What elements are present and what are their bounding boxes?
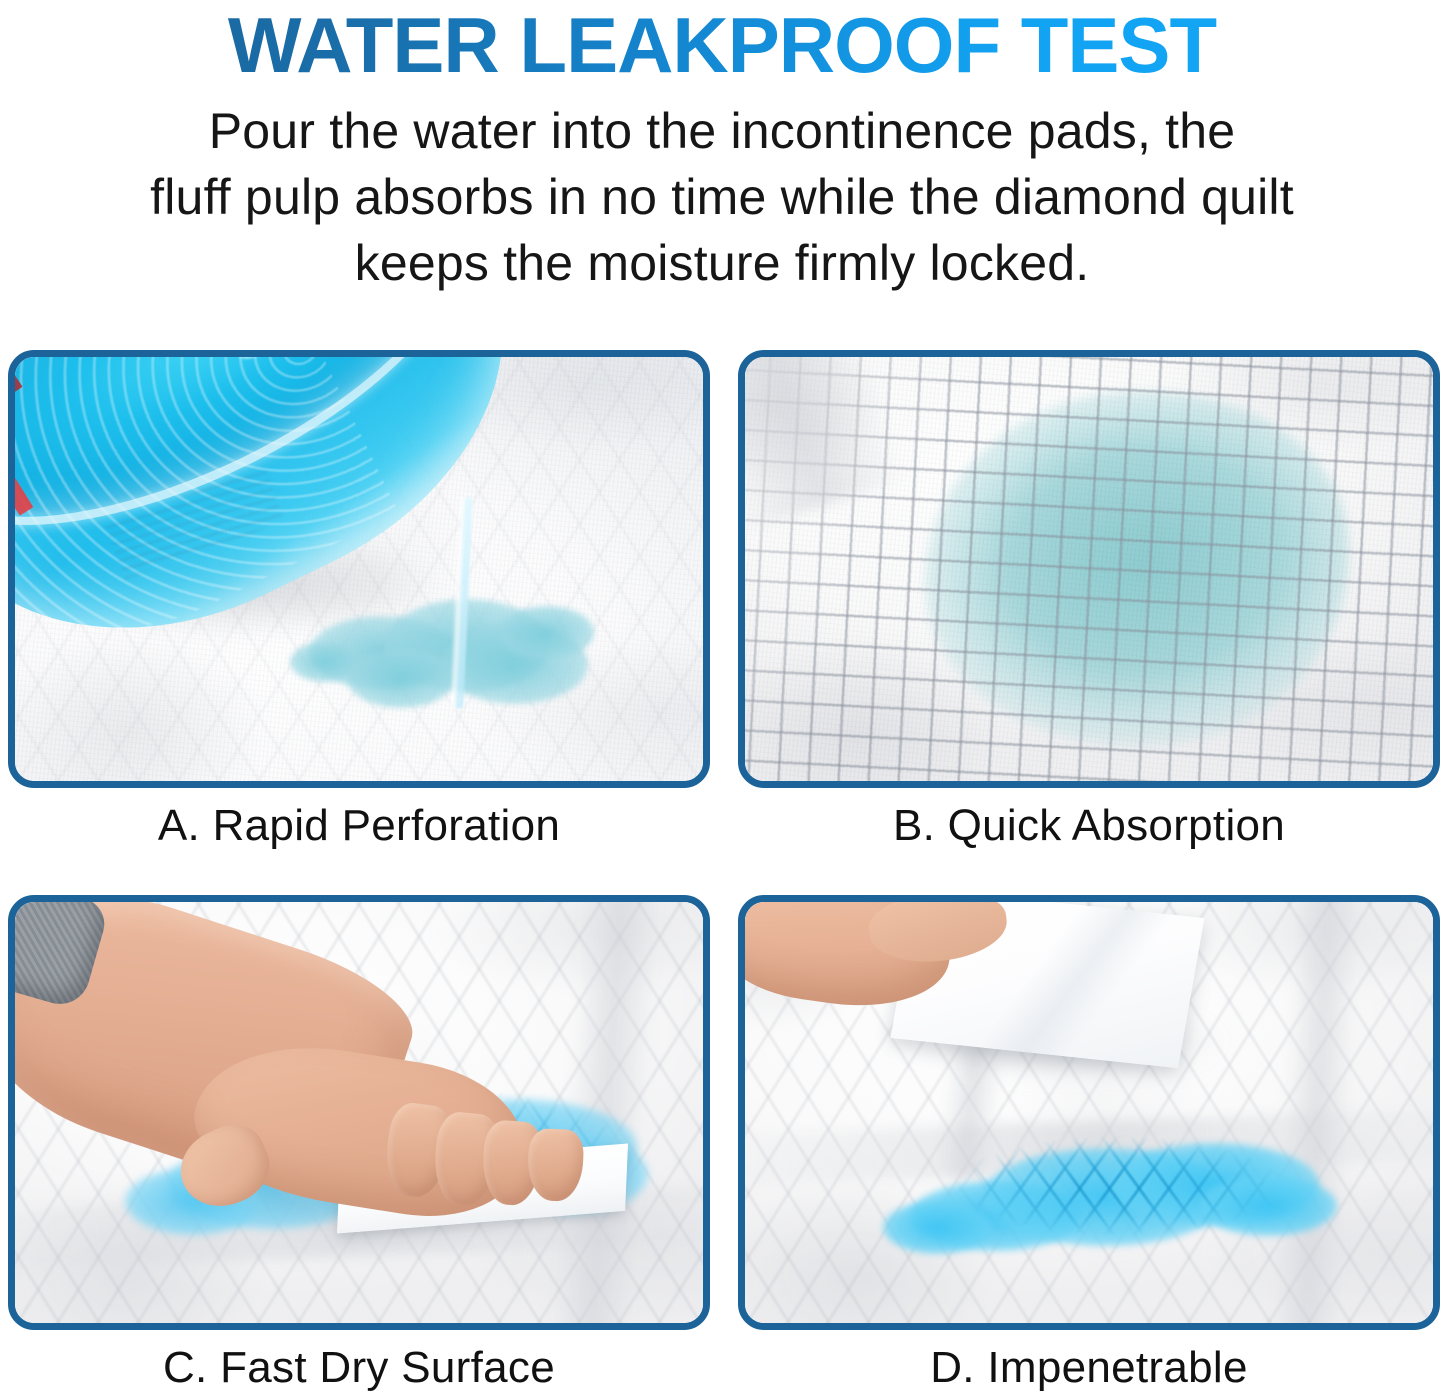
panel-c-caption: C. Fast Dry Surface	[8, 1342, 710, 1394]
panel-c	[8, 895, 710, 1330]
panel-d-photo	[738, 895, 1440, 1330]
panel-a-caption: A. Rapid Perforation	[8, 800, 710, 852]
wet-patch	[290, 594, 606, 713]
hand-pressing-tissue-scene	[15, 902, 703, 1323]
absorbed-patch-scene	[745, 357, 1433, 781]
panel-b-photo	[738, 350, 1440, 788]
infographic-page: WATER LEAKPROOF TEST Pour the water into…	[0, 0, 1444, 1400]
pouring-water-scene	[15, 357, 703, 781]
panel-a-photo	[8, 350, 710, 788]
panel-b-caption: B. Quick Absorption	[738, 800, 1440, 852]
dry-tissue-scene	[745, 902, 1433, 1323]
graduation-mark	[8, 401, 11, 436]
panel-d	[738, 895, 1440, 1330]
panel-c-photo	[8, 895, 710, 1330]
panel-grid: A. Rapid Perforation B. Quick Absorption	[0, 0, 1444, 1400]
blue-quilt-pattern	[910, 1134, 1309, 1243]
panel-b	[738, 350, 1440, 788]
panel-a	[8, 350, 710, 788]
panel-d-caption: D. Impenetrable	[738, 1342, 1440, 1394]
